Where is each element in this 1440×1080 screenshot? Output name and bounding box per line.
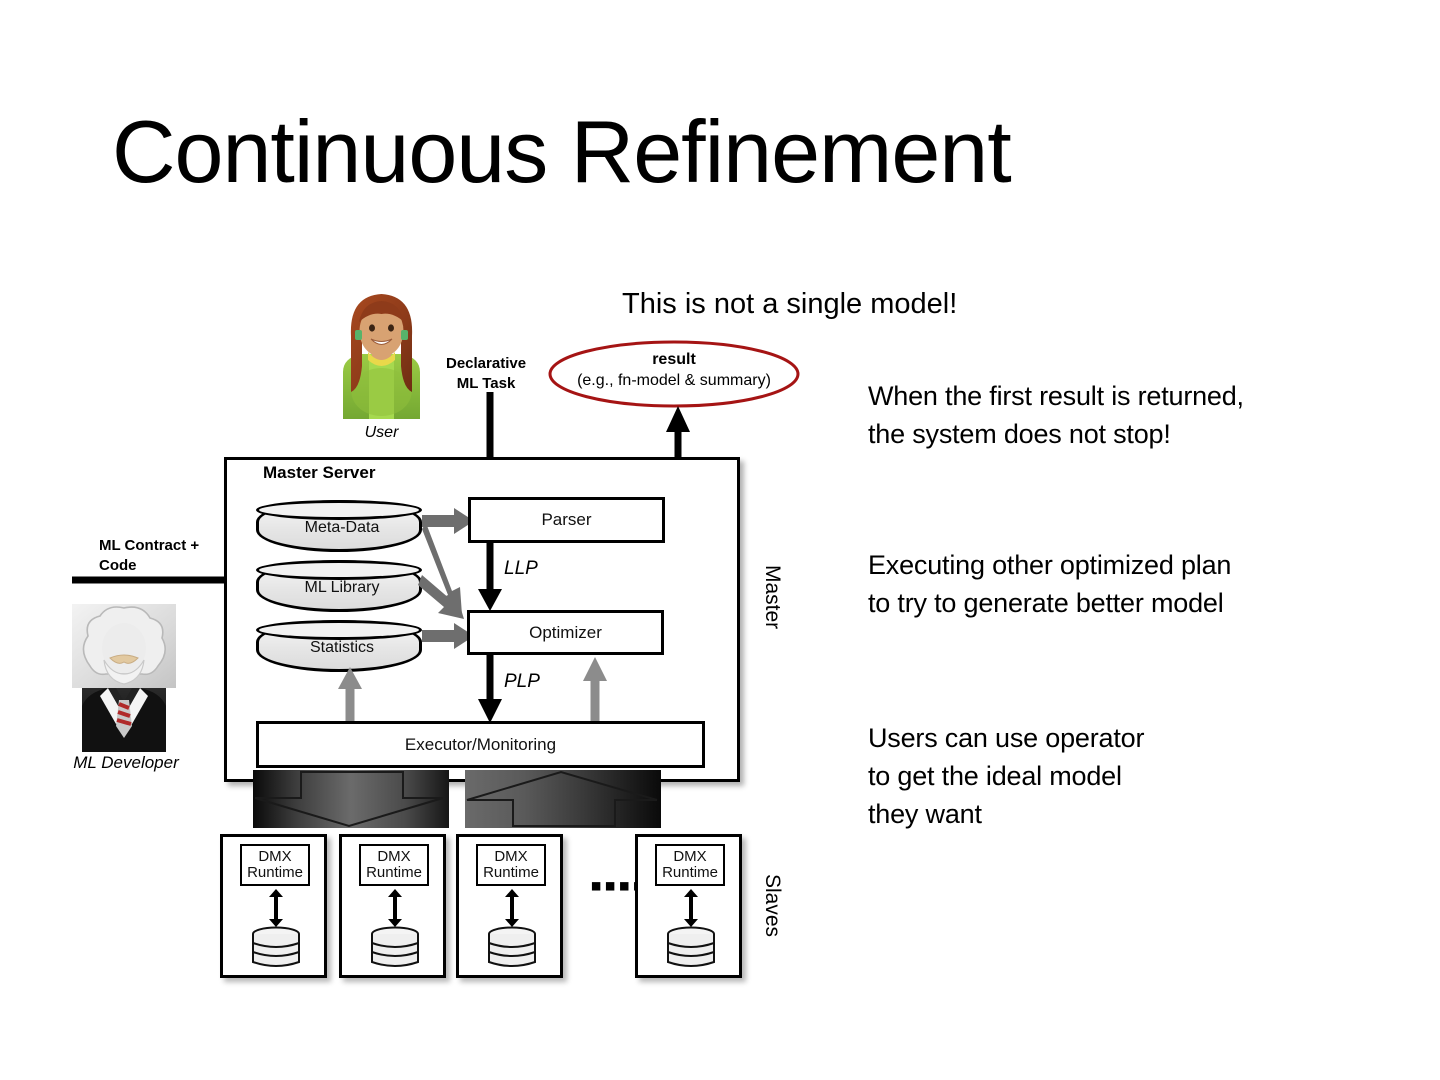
- store-statistics: Statistics: [256, 620, 422, 672]
- process-executor-monitoring-label: Executor/Monitoring: [405, 735, 556, 755]
- slave-bidirectional-arrow-4: [682, 889, 700, 927]
- declarative-ml-task-label: Declarative ML Task: [446, 354, 526, 395]
- llp-label: LLP: [504, 558, 538, 580]
- slave-database-icon-4: [666, 927, 716, 970]
- dmx-runtime-label-3: DMX Runtime: [476, 844, 546, 886]
- callout-headline: This is not a single model!: [622, 288, 957, 321]
- slave-node-4: DMX Runtime: [635, 834, 742, 978]
- executor-to-optimizer-feedback-arrow: [582, 657, 610, 725]
- process-parser-label: Parser: [541, 510, 591, 530]
- slave-node-1: DMX Runtime: [220, 834, 327, 978]
- slide-canvas: Continuous Refinement This is not a sing…: [0, 0, 1440, 1080]
- plp-label: PLP: [504, 671, 540, 693]
- slave-database-icon-2: [370, 927, 420, 970]
- master-server-label: Master Server: [263, 463, 375, 483]
- ml-developer-avatar-icon: [72, 604, 176, 752]
- dmx-runtime-label-1: DMX Runtime: [240, 844, 310, 886]
- process-optimizer: Optimizer: [467, 610, 664, 655]
- slave-node-3: DMX Runtime: [456, 834, 563, 978]
- note-users-operator: Users can use operator to get the ideal …: [868, 720, 1328, 833]
- slave-bidirectional-arrow-2: [386, 889, 404, 927]
- slave-database-icon-1: [251, 927, 301, 970]
- store-meta-data: Meta-Data: [256, 500, 422, 552]
- user-label: User: [331, 424, 432, 442]
- result-title: result: [548, 350, 800, 370]
- note-executing-plan: Executing other optimized plan to try to…: [868, 547, 1368, 623]
- process-executor-monitoring: Executor/Monitoring: [256, 721, 705, 768]
- master-slave-broad-arrows: [253, 770, 713, 832]
- dmx-runtime-label-2: DMX Runtime: [359, 844, 429, 886]
- process-optimizer-label: Optimizer: [529, 623, 602, 643]
- ml-developer-label: ML Developer: [64, 753, 188, 773]
- user-avatar-icon: [331, 288, 432, 419]
- result-subtitle: (e.g., fn-model & summary): [548, 371, 800, 391]
- slaves-side-label: Slaves: [760, 874, 784, 937]
- page-title: Continuous Refinement: [112, 108, 1011, 196]
- slave-bidirectional-arrow-1: [267, 889, 285, 927]
- master-side-label: Master: [760, 565, 784, 629]
- process-parser: Parser: [468, 497, 665, 543]
- slave-bidirectional-arrow-3: [503, 889, 521, 927]
- store-ml-library-label: ML Library: [259, 579, 425, 597]
- executor-to-statistics-feedback-arrow: [337, 667, 365, 725]
- store-statistics-label: Statistics: [259, 639, 425, 657]
- slave-node-2: DMX Runtime: [339, 834, 446, 978]
- store-ml-library: ML Library: [256, 560, 422, 612]
- note-first-result: When the first result is returned, the s…: [868, 378, 1368, 454]
- slave-database-icon-3: [487, 927, 537, 970]
- store-meta-data-label: Meta-Data: [259, 519, 425, 537]
- dmx-runtime-label-4: DMX Runtime: [655, 844, 725, 886]
